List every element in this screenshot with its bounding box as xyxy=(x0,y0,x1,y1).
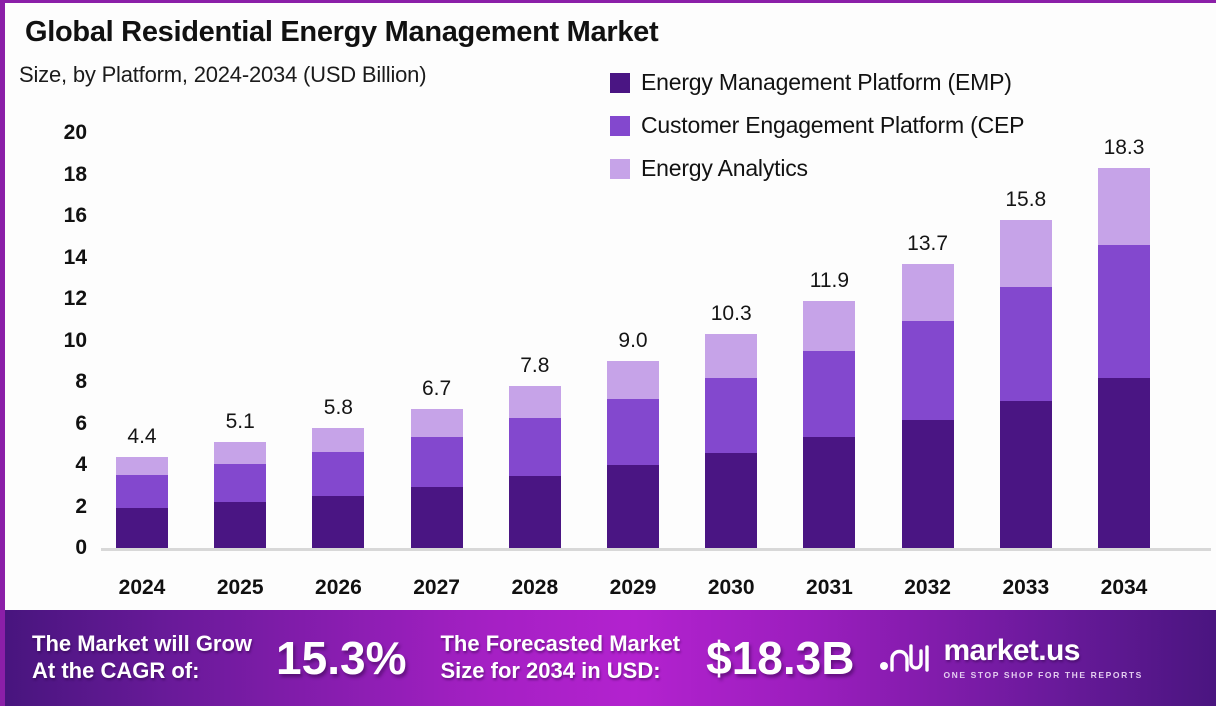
bar-segment-cep xyxy=(803,351,855,437)
bar-group[interactable]: 5.82026 xyxy=(312,428,364,548)
legend-item-emp[interactable]: Energy Management Platform (EMP) xyxy=(610,61,1024,104)
forecast-label-line1: The Forecasted Market xyxy=(440,631,680,658)
bar-segment-ea xyxy=(902,264,954,321)
footer-banner: The Market will Grow At the CAGR of: 15.… xyxy=(5,610,1216,706)
bar-segment-ea xyxy=(509,386,561,418)
forecast-label: The Forecasted Market Size for 2034 in U… xyxy=(440,631,680,685)
bar-segment-ea xyxy=(116,457,168,476)
bar-value-label: 9.0 xyxy=(618,329,647,353)
logo-wordmark: market.us xyxy=(943,636,1142,666)
market-us-logo-text: market.us ONE STOP SHOP FOR THE REPORTS xyxy=(943,636,1142,680)
cagr-label-line1: The Market will Grow xyxy=(32,631,252,658)
bar-value-label: 15.8 xyxy=(1005,188,1046,212)
bar-segment-cep xyxy=(509,418,561,476)
infographic-root: Global Residential Energy Management Mar… xyxy=(0,0,1216,706)
logo-tagline: ONE STOP SHOP FOR THE REPORTS xyxy=(943,671,1142,680)
x-axis-tick: 2027 xyxy=(413,576,460,600)
bar-segment-cep xyxy=(1000,287,1052,401)
bar-segment-emp xyxy=(902,420,954,548)
chart-plot-area: 20181614121086420 4.420245.120255.820266… xyxy=(5,113,1216,608)
bar-value-label: 5.1 xyxy=(226,410,255,434)
legend-swatch-emp xyxy=(610,73,630,93)
cagr-value: 15.3% xyxy=(276,635,406,681)
bar-series-container: 4.420245.120255.820266.720277.820289.020… xyxy=(5,113,1216,608)
x-axis-tick: 2024 xyxy=(119,576,166,600)
bar-segment-emp xyxy=(116,508,168,548)
bar-segment-cep xyxy=(902,321,954,421)
bar-segment-emp xyxy=(1000,401,1052,548)
bar-segment-cep xyxy=(312,452,364,497)
cagr-label: The Market will Grow At the CAGR of: xyxy=(32,631,252,685)
market-us-logo-icon xyxy=(878,641,934,675)
bar-group[interactable]: 10.32030 xyxy=(705,334,757,548)
bar-segment-cep xyxy=(705,378,757,453)
bar-value-label: 4.4 xyxy=(127,425,156,449)
x-axis-tick: 2026 xyxy=(315,576,362,600)
bar-segment-emp xyxy=(1098,378,1150,548)
bar-group[interactable]: 4.42024 xyxy=(116,457,168,548)
bar-segment-ea xyxy=(607,361,659,398)
chart-header: Global Residential Energy Management Mar… xyxy=(5,3,1216,113)
bar-value-label: 13.7 xyxy=(907,232,948,256)
bar-segment-cep xyxy=(607,399,659,465)
bar-segment-cep xyxy=(214,464,266,502)
x-axis-tick: 2030 xyxy=(708,576,755,600)
bar-segment-emp xyxy=(509,476,561,548)
bar-group[interactable]: 7.82028 xyxy=(509,386,561,548)
bar-segment-emp xyxy=(705,453,757,548)
bar-value-label: 10.3 xyxy=(711,302,752,326)
x-axis-tick: 2028 xyxy=(511,576,558,600)
bar-segment-cep xyxy=(116,475,168,507)
bar-group[interactable]: 9.02029 xyxy=(607,361,659,548)
bar-segment-cep xyxy=(411,437,463,487)
x-axis-tick: 2032 xyxy=(904,576,951,600)
bar-value-label: 11.9 xyxy=(810,269,849,293)
x-axis-tick: 2029 xyxy=(610,576,657,600)
bar-group[interactable]: 6.72027 xyxy=(411,409,463,548)
bar-segment-ea xyxy=(1098,168,1150,245)
bar-value-label: 18.3 xyxy=(1104,136,1145,160)
bar-group[interactable]: 11.92031 xyxy=(803,301,855,548)
bar-group[interactable]: 18.32034 xyxy=(1098,168,1150,548)
chart-subtitle: Size, by Platform, 2024-2034 (USD Billio… xyxy=(19,62,426,88)
bar-segment-ea xyxy=(411,409,463,437)
bar-group[interactable]: 13.72032 xyxy=(902,264,954,548)
bar-segment-ea xyxy=(705,334,757,378)
bar-segment-emp xyxy=(803,437,855,548)
bar-segment-cep xyxy=(1098,245,1150,378)
bar-segment-ea xyxy=(312,428,364,452)
bar-segment-emp xyxy=(607,465,659,548)
bar-group[interactable]: 15.82033 xyxy=(1000,220,1052,548)
bar-segment-ea xyxy=(214,442,266,464)
x-axis-tick: 2034 xyxy=(1101,576,1148,600)
page-title: Global Residential Energy Management Mar… xyxy=(25,16,658,49)
x-axis-tick: 2033 xyxy=(1002,576,1049,600)
bar-segment-ea xyxy=(803,301,855,351)
x-axis-tick: 2025 xyxy=(217,576,264,600)
bar-segment-emp xyxy=(214,502,266,548)
forecast-value: $18.3B xyxy=(706,635,854,681)
bar-value-label: 5.8 xyxy=(324,396,353,420)
bar-segment-emp xyxy=(411,487,463,548)
bar-value-label: 7.8 xyxy=(520,354,549,378)
cagr-label-line2: At the CAGR of: xyxy=(32,658,252,685)
market-us-logo[interactable]: market.us ONE STOP SHOP FOR THE REPORTS xyxy=(878,636,1142,680)
legend-label-emp: Energy Management Platform (EMP) xyxy=(641,71,1012,94)
bar-group[interactable]: 5.12025 xyxy=(214,442,266,548)
bar-segment-ea xyxy=(1000,220,1052,286)
bar-segment-emp xyxy=(312,496,364,548)
x-axis-tick: 2031 xyxy=(806,576,853,600)
forecast-label-line2: Size for 2034 in USD: xyxy=(440,658,680,685)
bar-value-label: 6.7 xyxy=(422,377,451,401)
